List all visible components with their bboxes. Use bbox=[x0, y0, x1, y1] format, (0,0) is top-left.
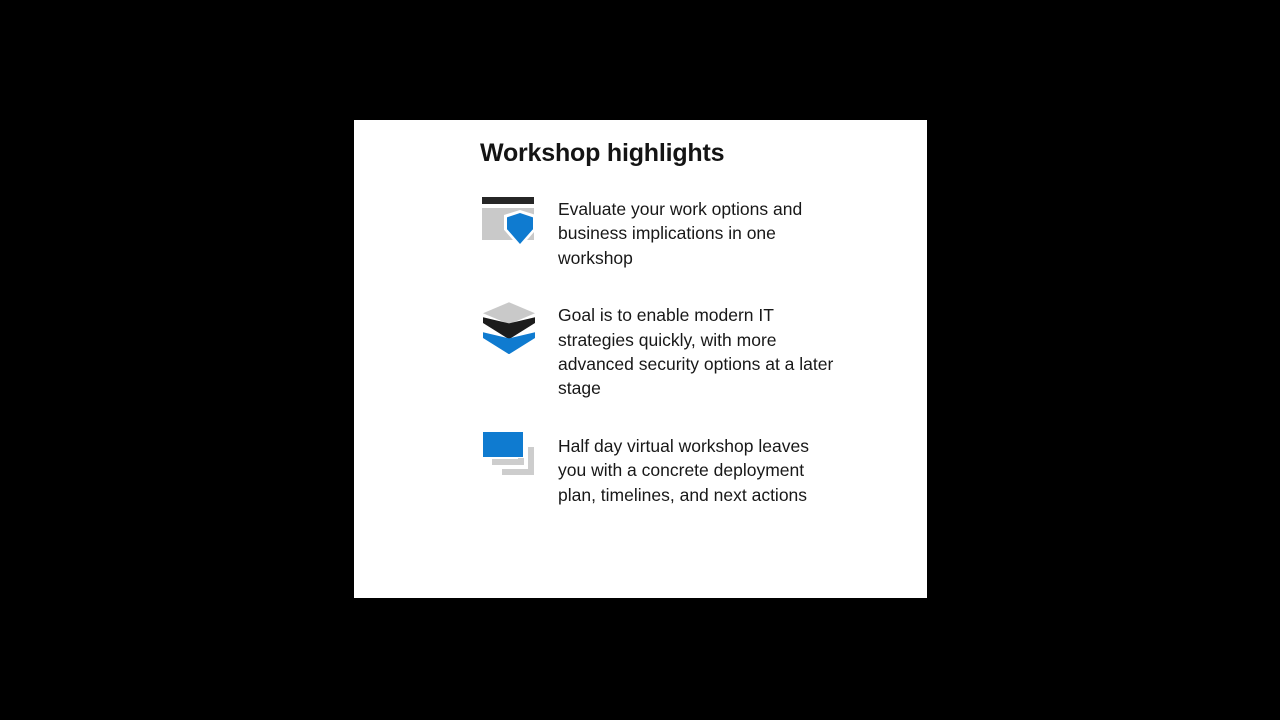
slide-content: Workshop highlights Evaluate your work o… bbox=[480, 138, 900, 507]
cascading-windows-icon bbox=[480, 427, 538, 489]
page-title: Workshop highlights bbox=[480, 138, 900, 168]
window-front-shape bbox=[482, 431, 524, 458]
slide-card: Workshop highlights Evaluate your work o… bbox=[354, 120, 927, 598]
list-item: Half day virtual workshop leaves you wit… bbox=[480, 427, 900, 507]
slide-canvas: Workshop highlights Evaluate your work o… bbox=[0, 0, 1280, 720]
list-item: Goal is to enable modern IT strategies q… bbox=[480, 296, 900, 401]
window-shield-icon bbox=[480, 190, 538, 252]
list-item-label: Goal is to enable modern IT strategies q… bbox=[558, 296, 836, 401]
list-item-label: Evaluate your work options and business … bbox=[558, 190, 836, 270]
layers-icon bbox=[480, 296, 538, 358]
window-titlebar-shape bbox=[482, 197, 534, 204]
list-item-label: Half day virtual workshop leaves you wit… bbox=[558, 427, 836, 507]
list-item: Evaluate your work options and business … bbox=[480, 190, 900, 270]
highlights-list: Evaluate your work options and business … bbox=[480, 190, 900, 507]
